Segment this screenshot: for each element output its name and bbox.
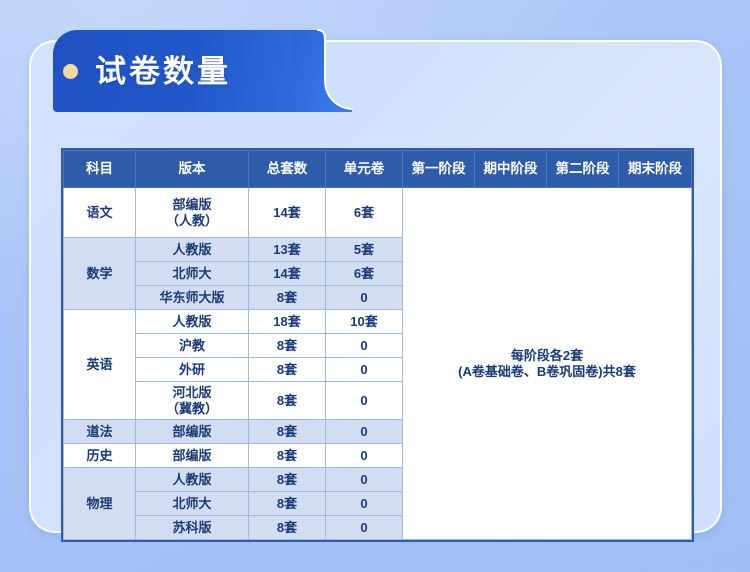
column-header-final: 期末阶段 — [619, 151, 692, 188]
cell-version: 外研 — [136, 358, 249, 382]
cell-version-line-2: （人教） — [138, 213, 246, 229]
cell-unit: 0 — [326, 334, 403, 358]
column-header-unit: 单元卷 — [326, 151, 403, 188]
table-body: 语文部编版（人教）14套6套每阶段各2套(A卷基础卷、B卷巩固卷)共8套数学人教… — [64, 188, 692, 540]
cell-version: 人教版 — [136, 310, 249, 334]
column-header-midterm: 期中阶段 — [475, 151, 547, 188]
cell-version: 河北版（冀教） — [136, 382, 249, 420]
cell-unit: 6套 — [326, 188, 403, 238]
column-header-total: 总套数 — [249, 151, 326, 188]
cell-version: 部编版 — [136, 420, 249, 444]
cell-unit: 0 — [326, 420, 403, 444]
cell-total: 13套 — [249, 238, 326, 262]
cell-version: 苏科版 — [136, 516, 249, 540]
cell-subject: 英语 — [64, 310, 136, 420]
cell-unit: 10套 — [326, 310, 403, 334]
cell-unit: 0 — [326, 444, 403, 468]
column-header-subject: 科目 — [64, 151, 136, 188]
slide-root: 试卷数量 科目 版本 总套数 单元卷 第一阶段 期中 — [0, 0, 750, 572]
cell-version: 北师大 — [136, 492, 249, 516]
cell-unit: 0 — [326, 286, 403, 310]
cell-total: 18套 — [249, 310, 326, 334]
cell-unit: 0 — [326, 358, 403, 382]
cell-subject: 道法 — [64, 420, 136, 444]
cell-stage-note: 每阶段各2套(A卷基础卷、B卷巩固卷)共8套 — [403, 188, 692, 540]
stage-note-line-2: (A卷基础卷、B卷巩固卷)共8套 — [405, 364, 689, 380]
cell-total: 8套 — [249, 334, 326, 358]
paper-count-table: 科目 版本 总套数 单元卷 第一阶段 期中阶段 第二阶段 期末阶段 语文部编版（… — [63, 150, 692, 540]
cell-total: 8套 — [249, 468, 326, 492]
title-tab-curve-icon — [292, 30, 352, 112]
column-header-stage-1: 第一阶段 — [403, 151, 475, 188]
cell-total: 8套 — [249, 358, 326, 382]
cell-version-line-2: （冀教） — [138, 401, 246, 417]
cell-total: 8套 — [249, 492, 326, 516]
cell-subject: 语文 — [64, 188, 136, 238]
cell-version-line-1: 河北版 — [138, 385, 246, 401]
cell-total: 14套 — [249, 188, 326, 238]
cell-subject: 物理 — [64, 468, 136, 540]
cell-unit: 5套 — [326, 238, 403, 262]
cell-version: 部编版（人教） — [136, 188, 249, 238]
column-header-stage-2: 第二阶段 — [547, 151, 619, 188]
page-title: 试卷数量 — [95, 56, 231, 87]
cell-total: 8套 — [249, 516, 326, 540]
table-header-row: 科目 版本 总套数 单元卷 第一阶段 期中阶段 第二阶段 期末阶段 — [64, 151, 692, 188]
cell-version: 沪教 — [136, 334, 249, 358]
paper-count-table-wrapper: 科目 版本 总套数 单元卷 第一阶段 期中阶段 第二阶段 期末阶段 语文部编版（… — [63, 150, 691, 540]
cell-total: 8套 — [249, 286, 326, 310]
cell-version: 北师大 — [136, 262, 249, 286]
cell-subject: 数学 — [64, 238, 136, 310]
cell-total: 8套 — [249, 444, 326, 468]
cell-unit: 0 — [326, 492, 403, 516]
stage-note-line-1: 每阶段各2套 — [405, 348, 689, 364]
cell-total: 8套 — [249, 420, 326, 444]
cell-subject: 历史 — [64, 444, 136, 468]
page-title-row: 试卷数量 — [53, 30, 231, 112]
cell-version: 人教版 — [136, 468, 249, 492]
column-header-version: 版本 — [136, 151, 249, 188]
cell-version: 华东师大版 — [136, 286, 249, 310]
cell-unit: 0 — [326, 382, 403, 420]
cell-version-line-1: 部编版 — [138, 197, 246, 213]
cell-version: 部编版 — [136, 444, 249, 468]
cell-unit: 0 — [326, 468, 403, 492]
cell-total: 14套 — [249, 262, 326, 286]
cell-unit: 0 — [326, 516, 403, 540]
cell-version: 人教版 — [136, 238, 249, 262]
cell-total: 8套 — [249, 382, 326, 420]
table-row: 语文部编版（人教）14套6套每阶段各2套(A卷基础卷、B卷巩固卷)共8套 — [64, 188, 692, 238]
cell-unit: 6套 — [326, 262, 403, 286]
dot-icon — [63, 64, 78, 79]
